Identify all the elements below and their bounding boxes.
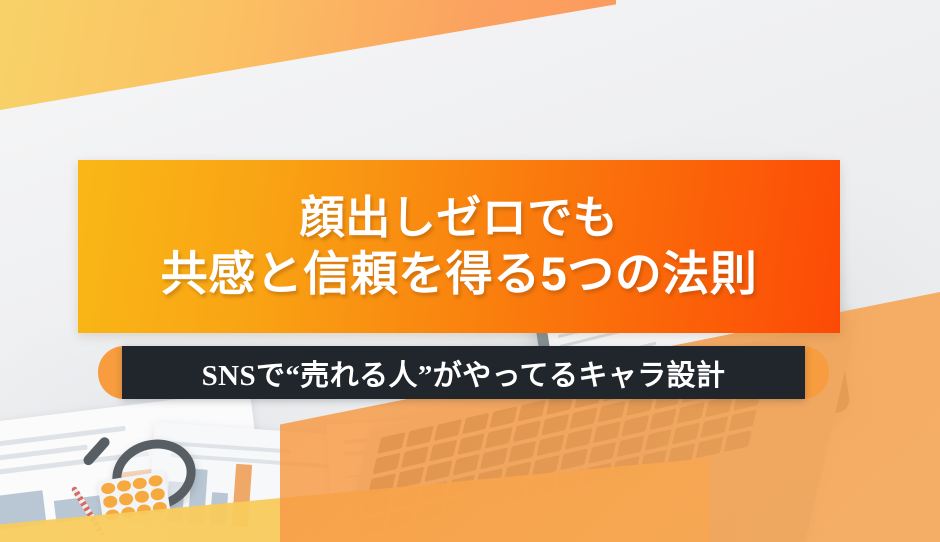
subtitle-text: SNSで“売れる人”がやってるキャラ設計: [202, 352, 726, 394]
subtitle-ribbon: SNSで“売れる人”がやってるキャラ設計: [98, 346, 829, 399]
title-line-1: 顔出しゼロでも: [300, 191, 619, 244]
title-banner: 顔出しゼロでも 共感と信頼を得る5つの法則: [78, 160, 840, 333]
subtitle-bar-core: SNSで“売れる人”がやってるキャラ設計: [122, 346, 805, 399]
subtitle-cap-left: [98, 346, 124, 399]
banner-canvas: 顔出しゼロでも 共感と信頼を得る5つの法則 SNSで“売れる人”がやってるキャラ…: [0, 0, 940, 542]
subtitle-cap-right: [803, 346, 829, 399]
title-line-2: 共感と信頼を得る5つの法則: [161, 246, 758, 301]
